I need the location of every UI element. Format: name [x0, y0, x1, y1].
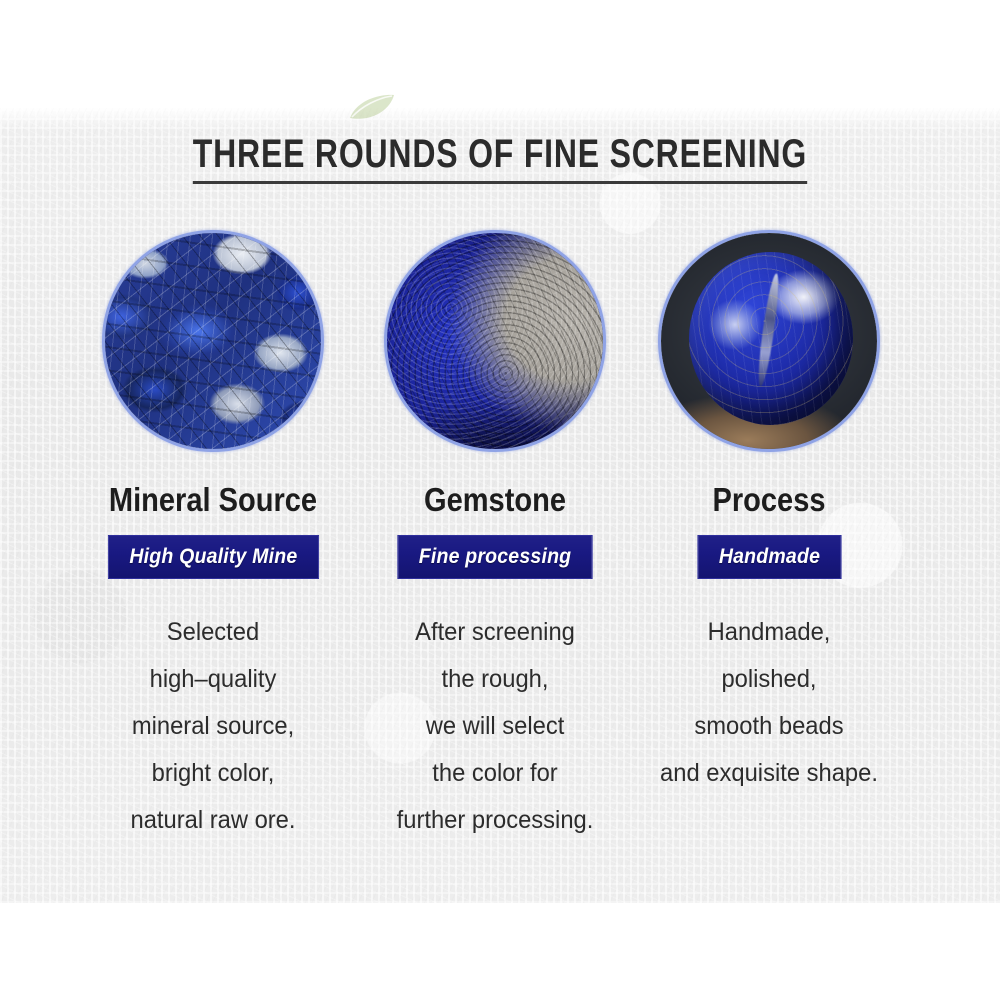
description-line: bright color, [71, 750, 356, 797]
badge-fine-processing: Fine processing [397, 535, 592, 579]
badge-row-process: Handmade [619, 535, 919, 579]
panel-bottom-fade [0, 974, 1000, 1000]
page-title-wrapper: THREE ROUNDS OF FINE SCREENING [0, 133, 1000, 184]
image-gemstone [384, 230, 606, 452]
description-mineral-source: Selected high–quality mineral source, br… [71, 609, 356, 844]
description-line: the rough, [353, 656, 638, 703]
description-line: Selected [71, 609, 356, 656]
column-mineral-source: Mineral Source High Quality Mine Selecte… [63, 230, 363, 844]
leaf-icon [346, 92, 398, 124]
badge-row-gemstone: Fine processing [345, 535, 645, 579]
column-process: Process Handmade Handmade, polished, smo… [619, 230, 919, 797]
heading-gemstone: Gemstone [363, 482, 627, 518]
column-gemstone: Gemstone Fine processing After screening… [345, 230, 645, 844]
description-line: mineral source, [71, 703, 356, 750]
badge-high-quality-mine: High Quality Mine [108, 535, 319, 579]
description-line: further processing. [353, 797, 638, 844]
description-process: Handmade, polished, smooth beads and exq… [627, 609, 912, 797]
description-line: high–quality [71, 656, 356, 703]
description-line: Handmade, [627, 609, 912, 656]
description-line: smooth beads [627, 703, 912, 750]
page-title: THREE ROUNDS OF FINE SCREENING [193, 133, 807, 184]
badge-row-mineral-source: High Quality Mine [63, 535, 363, 579]
description-line: we will select [353, 703, 638, 750]
description-line: polished, [627, 656, 912, 703]
description-line: the color for [353, 750, 638, 797]
badge-handmade: Handmade [697, 535, 841, 579]
description-line: and exquisite shape. [627, 750, 912, 797]
description-line: natural raw ore. [71, 797, 356, 844]
heading-process: Process [637, 482, 901, 518]
heading-mineral-source: Mineral Source [81, 482, 345, 518]
image-mineral-source [102, 230, 324, 452]
description-gemstone: After screening the rough, we will selec… [353, 609, 638, 844]
description-line: After screening [353, 609, 638, 656]
infographic-page: THREE ROUNDS OF FINE SCREENING Mineral S… [0, 0, 1000, 1000]
image-process [658, 230, 880, 452]
